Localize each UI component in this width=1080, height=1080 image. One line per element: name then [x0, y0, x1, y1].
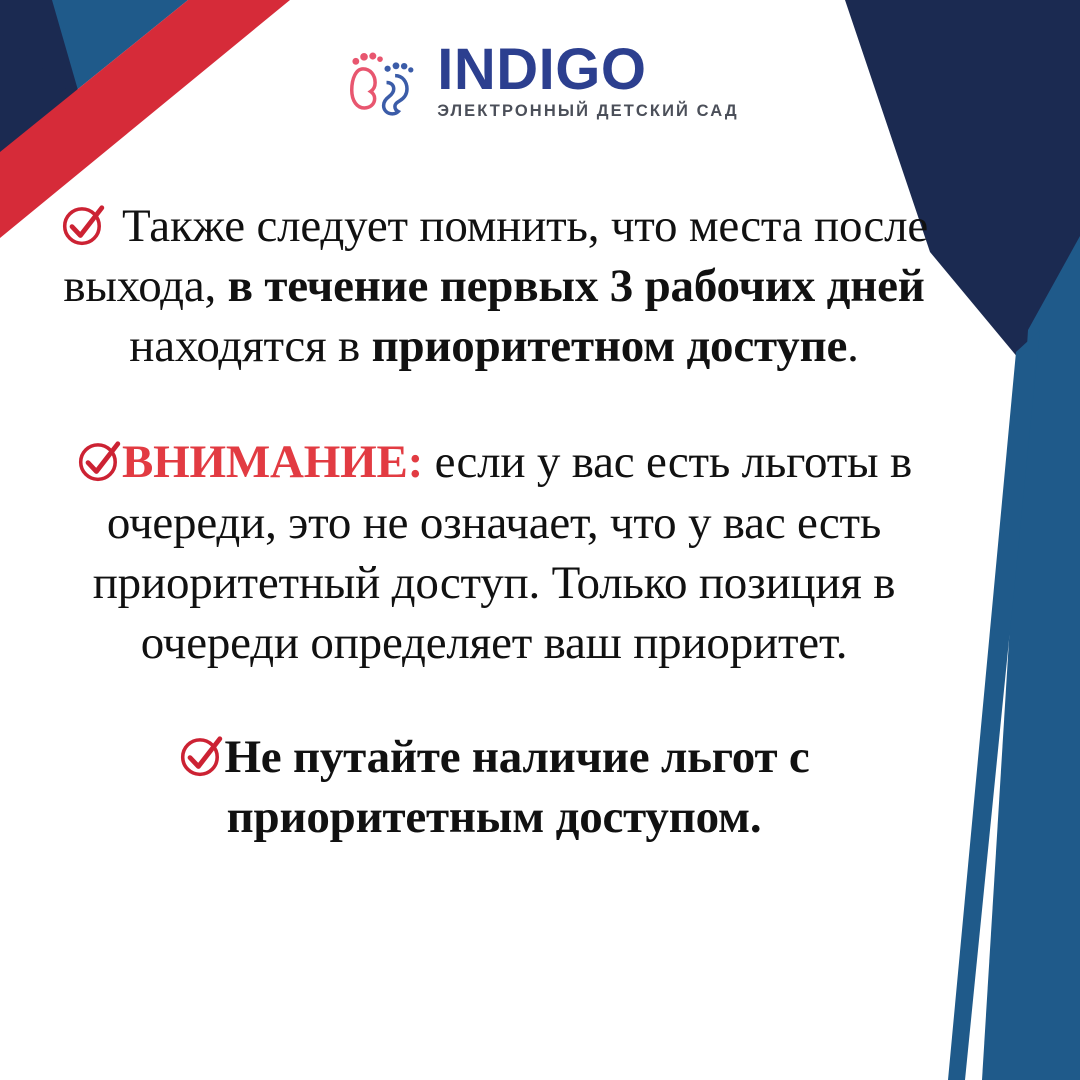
- paragraph-retention-priority: Также следует помнить, что места после в…: [24, 196, 964, 376]
- red-check-circle-icon: [60, 201, 106, 247]
- logo-tagline: ЭЛЕКТРОННЫЙ ДЕТСКИЙ САД: [437, 103, 739, 120]
- red-check-circle-icon: [76, 437, 122, 483]
- brand-logo: INDIGO ЭЛЕКТРОННЫЙ ДЕТСКИЙ САД: [0, 38, 1080, 124]
- red-check-circle-icon: [178, 732, 224, 778]
- baby-footprints-icon: [341, 43, 419, 119]
- paragraph-1-text-e: .: [847, 320, 859, 372]
- poster-canvas: INDIGO ЭЛЕКТРОННЫЙ ДЕТСКИЙ САД Также сле…: [0, 0, 1080, 1080]
- paragraph-do-not-confuse: Не путайте наличие льгот с приоритетным …: [24, 727, 964, 847]
- content-body: Также следует помнить, что места после в…: [24, 196, 964, 847]
- logo-wordmark: INDIGO: [437, 42, 646, 97]
- paragraph-1-text-c: находятся в: [129, 320, 371, 372]
- logo-text-block: INDIGO ЭЛЕКТРОННЫЙ ДЕТСКИЙ САД: [437, 42, 739, 120]
- paragraph-1-text-bold-1: в течение первых 3 рабочих дней: [228, 260, 925, 312]
- paragraph-attention-benefits: ВНИМАНИЕ: если у вас есть льготы в очере…: [24, 432, 964, 673]
- attention-label: ВНИМАНИЕ:: [122, 436, 423, 488]
- paragraph-1-text-bold-2: приоритетном доступе: [372, 320, 848, 372]
- paragraph-3-text: Не путайте наличие льгот с приоритетным …: [224, 731, 809, 843]
